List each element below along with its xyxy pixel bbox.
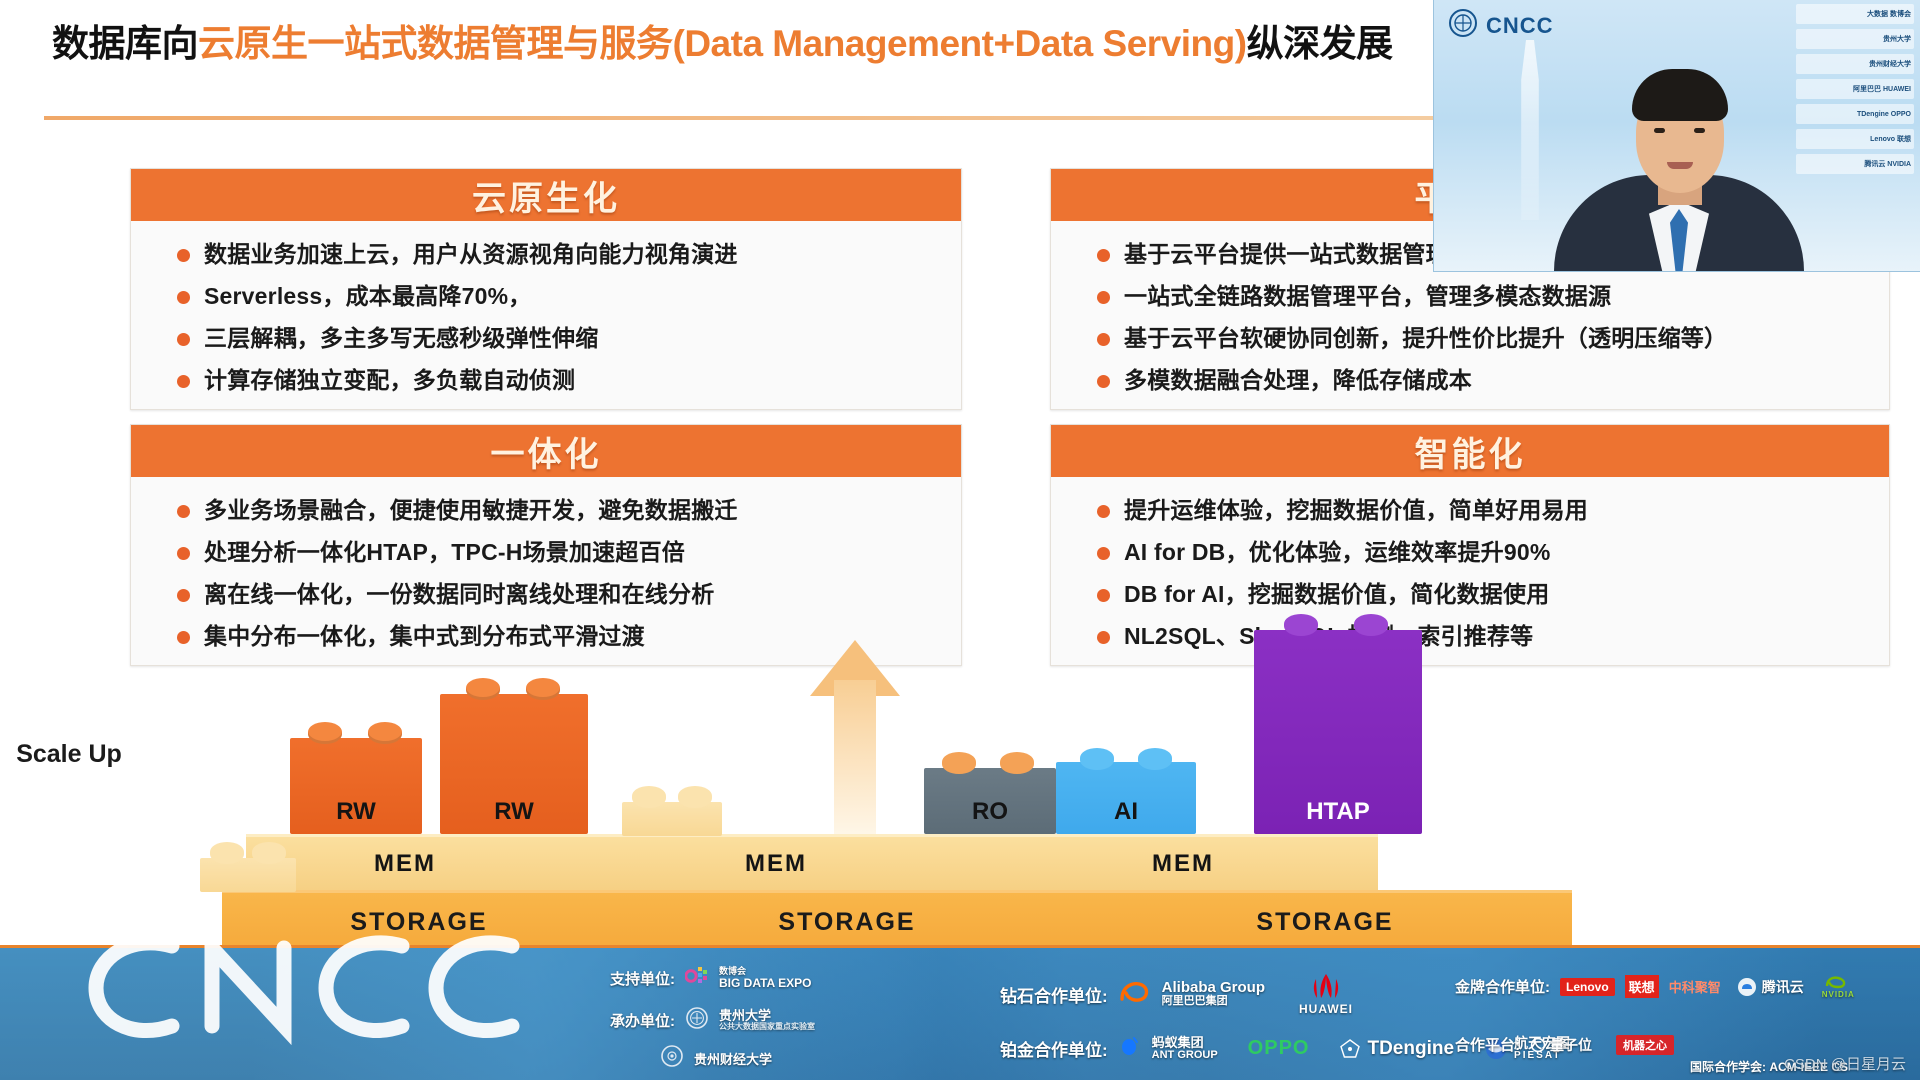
lego-stud — [1138, 748, 1172, 770]
list-item: 处理分析一体化HTAP，TPC-H场景加速超百倍 — [139, 531, 953, 573]
speaker-portrait — [1554, 21, 1804, 271]
tencent-label: 腾讯云 — [1762, 977, 1804, 997]
mem-slab-3: MEM — [988, 834, 1378, 890]
alibaba-en-label: Alibaba Group — [1162, 980, 1265, 996]
brick-body — [622, 802, 722, 836]
brick-label: AI — [1056, 798, 1196, 834]
card-body-integrated: 多业务场景融合，便捷使用敏捷开发，避免数据搬迁 处理分析一体化HTAP，TPC-… — [131, 477, 961, 667]
oppo-logo-label: OPPO — [1248, 1037, 1310, 1060]
bullet-dot-icon — [1097, 249, 1110, 262]
bullet-text: 多模数据融合处理，降低存储成本 — [1124, 364, 1472, 396]
mem-label: MEM — [1152, 850, 1214, 878]
mem-slab-2: MEM — [564, 834, 988, 890]
nvidia-logo-icon: NVIDIA — [1822, 974, 1855, 999]
cncc-video-brand: CNCC — [1448, 8, 1554, 43]
card-title-intelligent: 智能化 — [1415, 427, 1526, 476]
csdn-credit-watermark: CSDN @日星月云 — [1784, 1053, 1906, 1074]
list-item: 多业务场景融合，便捷使用敏捷开发，避免数据搬迁 — [139, 489, 953, 531]
speaker-hair — [1632, 69, 1728, 121]
lego-stud — [210, 842, 244, 864]
bigdata-expo-logo-icon — [685, 964, 709, 993]
bullet-dot-icon — [177, 547, 190, 560]
mem-label: MEM — [374, 850, 436, 878]
video-sponsor-row: TDengine OPPO — [1796, 104, 1914, 124]
list-item: 提升运维体验，挖掘数据价值，简单好用易用 — [1059, 489, 1881, 531]
storage-label: STORAGE — [1256, 908, 1393, 937]
storage-slab-1: STORAGE — [222, 890, 616, 952]
bullet-dot-icon — [1097, 589, 1110, 602]
lego-stud — [678, 786, 712, 808]
bullet-dot-icon — [177, 589, 190, 602]
guizhou-university-lab-label: 公共大数据国家重点实验室 — [719, 1023, 815, 1032]
guizhou-finance-label: 贵州财经大学 — [694, 1049, 772, 1068]
lego-stud — [368, 722, 402, 744]
lego-stud — [1284, 614, 1318, 636]
bullet-text: 一站式全链路数据管理平台，管理多模态数据源 — [1124, 280, 1611, 312]
bullet-text: DB for AI，挖掘数据价值，简化数据使用 — [1124, 578, 1549, 610]
bullet-text: 多业务场景融合，便捷使用敏捷开发，避免数据搬迁 — [204, 494, 738, 526]
video-sponsor-strip: 大数据 数博会 贵州大学 贵州财经大学 阿里巴巴 HUAWEI TDengine… — [1794, 4, 1914, 204]
card-header-cloud-native: 云原生化 — [131, 169, 961, 221]
lego-architecture-diagram: Scale Up STORAGE STORAGE STORAGE MEM MEM… — [0, 640, 1920, 970]
card-body-cloud-native: 数据业务加速上云，用户从资源视角向能力视角演进 Serverless，成本最高降… — [131, 221, 961, 411]
sponsor-group-organizer: 承办单位: 贵州大学 公共大数据国家重点实验室 — [610, 1006, 815, 1035]
sponsor-label-diamond: 钻石合作单位: — [1000, 982, 1108, 1007]
list-item: 多模数据融合处理，降低存储成本 — [1059, 359, 1881, 401]
bullet-text: AI for DB，优化体验，运维效率提升90% — [1124, 536, 1551, 568]
lego-stud — [1080, 748, 1114, 770]
sponsor-label-support: 支持单位: — [610, 968, 675, 989]
card-cloud-native: 云原生化 数据业务加速上云，用户从资源视角向能力视角演进 Serverless，… — [130, 168, 962, 410]
sponsor-group-organizer-2: 贵州财经大学 — [660, 1044, 772, 1073]
scale-up-label: Scale Up — [0, 740, 144, 769]
bullet-text: 基于云平台软硬协同创新，提升性价比提升（透明压缩等） — [1124, 322, 1727, 354]
bullet-text: 提升运维体验，挖掘数据价值，简单好用易用 — [1124, 494, 1588, 526]
lego-stud — [1354, 614, 1388, 636]
brick-rw-1: RW — [290, 738, 422, 834]
arrow-shaft — [834, 680, 876, 845]
bullet-dot-icon — [1097, 505, 1110, 518]
bullet-dot-icon — [1097, 547, 1110, 560]
jiqizhixin-logo-label: 机器之心 — [1616, 1035, 1674, 1055]
storage-slab-2: STORAGE — [616, 890, 1078, 952]
list-item: 离在线一体化，一份数据同时离线处理和在线分析 — [139, 573, 953, 615]
bullet-dot-icon — [1097, 375, 1110, 388]
bullet-text: 数据业务加速上云，用户从资源视角向能力视角演进 — [204, 238, 738, 270]
guizhou-finance-seal-icon — [660, 1044, 684, 1073]
card-title-integrated: 一体化 — [491, 427, 602, 476]
brick-label: RW — [290, 798, 422, 834]
mem-label: MEM — [745, 850, 807, 878]
sponsor-group-support: 支持单位: 数博会 BIG DATA EXPO — [610, 964, 811, 993]
lenovo-cn-label: 联想 — [1625, 975, 1659, 998]
title-segment-suffix: 纵深发展 — [1247, 23, 1393, 64]
lego-stud — [526, 678, 560, 700]
bullet-dot-icon — [1097, 291, 1110, 304]
video-sponsor-row: 大数据 数博会 — [1796, 4, 1914, 24]
bullet-dot-icon — [177, 249, 190, 262]
speaker-mouth — [1667, 162, 1693, 169]
bullet-text: 离在线一体化，一份数据同时离线处理和在线分析 — [204, 578, 714, 610]
lego-stud — [466, 678, 500, 700]
sponsor-group-gold: 金牌合作单位: Lenovo 联想 中科聚智 腾讯云 NVIDIA — [1455, 974, 1855, 999]
alibaba-logo-icon — [1118, 979, 1152, 1010]
sponsor-label-platform: 合作平台: — [1455, 1034, 1520, 1055]
list-item: 基于云平台软硬协同创新，提升性价比提升（透明压缩等） — [1059, 317, 1881, 359]
card-integrated: 一体化 多业务场景融合，便捷使用敏捷开发，避免数据搬迁 处理分析一体化HTAP，… — [130, 424, 962, 666]
storage-label: STORAGE — [778, 908, 915, 937]
zhongke-logo-label: 中科聚智 — [1669, 977, 1721, 996]
cncc-emblem-icon — [1448, 8, 1478, 43]
speaker-eye-right — [1694, 128, 1705, 133]
list-item: Serverless，成本最高降70%， — [139, 275, 953, 317]
bullet-dot-icon — [1097, 333, 1110, 346]
card-body-intelligent: 提升运维体验，挖掘数据价值，简单好用易用 AI for DB，优化体验，运维效率… — [1051, 477, 1889, 667]
huawei-logo-icon: HUAWEI — [1299, 972, 1353, 1016]
brick-ai: AI — [1056, 762, 1196, 834]
list-item: 计算存储独立变配，多负载自动侦测 — [139, 359, 953, 401]
bullet-dot-icon — [177, 505, 190, 518]
scale-up-arrow-icon — [790, 640, 920, 845]
presentation-slide: 数据库向云原生一站式数据管理与服务(Data Management+Data S… — [0, 0, 1920, 1080]
qbitai-logo-icon: 量子位 — [1530, 1035, 1592, 1055]
lego-stud — [942, 752, 976, 774]
video-sponsor-row: 贵州财经大学 — [1796, 54, 1914, 74]
tdengine-label: TDengine — [1367, 1038, 1454, 1060]
nvidia-label: NVIDIA — [1822, 990, 1855, 999]
bullet-text: 三层解耦，多主多写无感秒级弹性伸缩 — [204, 322, 598, 354]
lego-stud — [252, 842, 286, 864]
ant-en-label: ANT GROUP — [1152, 1050, 1218, 1062]
card-intelligent: 智能化 提升运维体验，挖掘数据价值，简单好用易用 AI for DB，优化体验，… — [1050, 424, 1890, 666]
list-item: AI for DB，优化体验，运维效率提升90% — [1059, 531, 1881, 573]
bigdata-expo-en-label: BIG DATA EXPO — [719, 977, 811, 990]
lego-stud — [308, 722, 342, 744]
lego-stub-left — [200, 858, 296, 892]
tdengine-logo-icon: TDengine — [1339, 1038, 1454, 1060]
video-sponsor-row: Lenovo 联想 — [1796, 129, 1914, 149]
sponsor-label-organizer: 承办单位: — [610, 1010, 675, 1031]
guizhou-university-seal-icon — [685, 1006, 709, 1035]
bullet-text: 处理分析一体化HTAP，TPC-H场景加速超百倍 — [204, 536, 685, 568]
lego-stud — [1000, 752, 1034, 774]
list-item: 一站式全链路数据管理平台，管理多模态数据源 — [1059, 275, 1881, 317]
video-sponsor-row: 贵州大学 — [1796, 29, 1914, 49]
list-item: 数据业务加速上云，用户从资源视角向能力视角演进 — [139, 233, 953, 275]
sponsor-label-gold: 金牌合作单位: — [1455, 976, 1550, 997]
qbitai-label: 量子位 — [1550, 1035, 1592, 1055]
lenovo-logo-label: Lenovo — [1560, 978, 1615, 996]
title-segment-highlight: 云原生一站式数据管理与服务(Data Management+Data Servi… — [198, 23, 1247, 64]
bullet-text: 计算存储独立变配，多负载自动侦测 — [204, 364, 575, 396]
tencent-cloud-logo-icon: 腾讯云 — [1737, 977, 1804, 997]
lego-stub-middle — [622, 802, 722, 836]
brick-ro: RO — [924, 768, 1056, 834]
brick-label: RO — [924, 798, 1056, 834]
brick-label: RW — [440, 798, 588, 834]
alibaba-cn-label: 阿里巴巴集团 — [1162, 996, 1265, 1008]
sponsor-label-platinum: 铂金合作单位: — [1000, 1036, 1108, 1061]
card-header-integrated: 一体化 — [131, 425, 961, 477]
video-sponsor-row: 阿里巴巴 HUAWEI — [1796, 79, 1914, 99]
storage-slab-3: STORAGE — [1078, 890, 1572, 952]
bullet-dot-icon — [177, 333, 190, 346]
ant-group-logo-icon — [1118, 1034, 1142, 1063]
sponsor-group-platform: 合作平台: 量子位 机器之心 — [1455, 1034, 1674, 1055]
bullet-text: Serverless，成本最高降70%， — [204, 280, 531, 312]
list-item: 三层解耦，多主多写无感秒级弹性伸缩 — [139, 317, 953, 359]
card-title-cloud-native: 云原生化 — [472, 171, 620, 220]
huawei-label: HUAWEI — [1299, 1002, 1353, 1016]
card-header-intelligent: 智能化 — [1051, 425, 1889, 477]
speaker-video-overlay[interactable]: CNCC 大数据 数博会 贵州大学 贵州财经大学 阿里巴巴 HUAWEI TDe… — [1433, 0, 1920, 272]
cncc-video-brand-label: CNCC — [1486, 13, 1554, 39]
sponsor-footer-bar: 支持单位: 数博会 BIG DATA EXPO 承办单位: — [0, 945, 1920, 1080]
brick-label: HTAP — [1254, 798, 1422, 834]
brick-htap: HTAP — [1254, 630, 1422, 834]
list-item: DB for AI，挖掘数据价值，简化数据使用 — [1059, 573, 1881, 615]
title-segment-prefix: 数据库向 — [52, 23, 198, 64]
backdrop-tower-graphic — [1510, 40, 1550, 220]
lego-stud — [632, 786, 666, 808]
brick-body — [200, 858, 296, 892]
ant-cn-label: 蚂蚁集团 — [1152, 1036, 1218, 1050]
sponsor-group-diamond: 钻石合作单位: Alibaba Group 阿里巴巴集团 — [1000, 972, 1353, 1016]
brick-rw-2: RW — [440, 694, 588, 834]
bullet-dot-icon — [177, 291, 190, 304]
speaker-eye-left — [1654, 128, 1665, 133]
storage-label: STORAGE — [350, 908, 487, 937]
video-sponsor-row: 腾讯云 NVIDIA — [1796, 154, 1914, 174]
bullet-dot-icon — [177, 375, 190, 388]
